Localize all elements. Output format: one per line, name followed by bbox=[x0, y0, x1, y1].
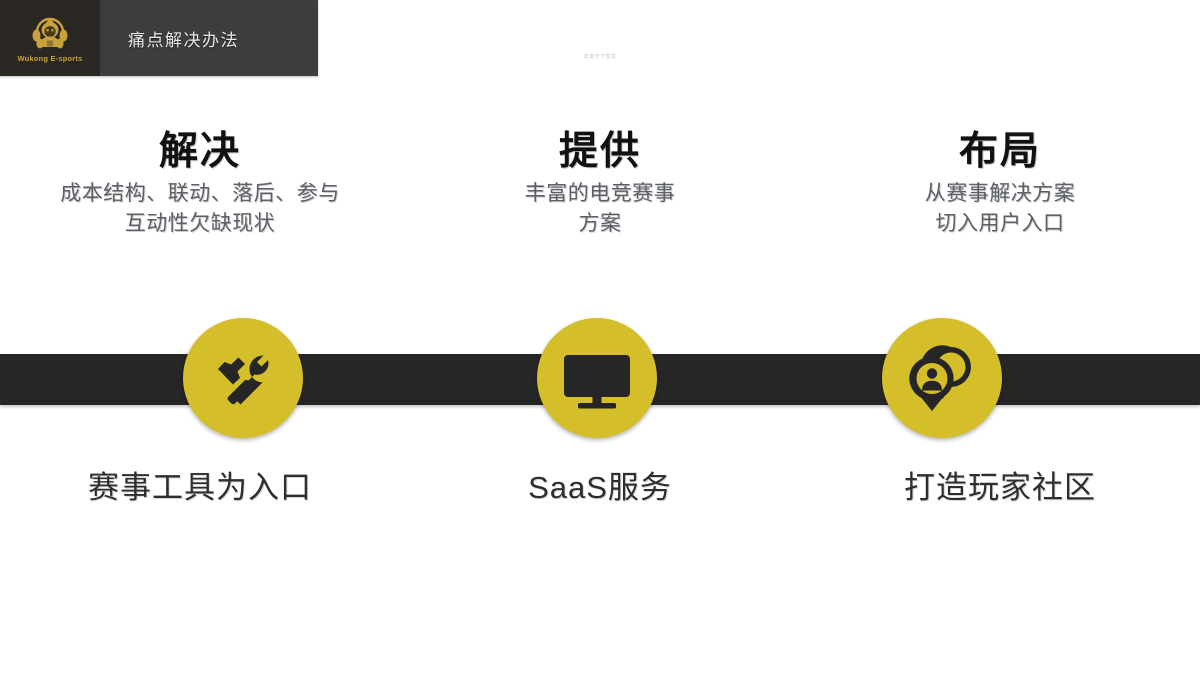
people-location-pins-icon bbox=[905, 341, 979, 415]
logo-text: Wukong E-sports bbox=[18, 54, 83, 63]
hammer-wrench-icon bbox=[207, 342, 279, 414]
columns-group: 解决 成本结构、联动、落后、参与 互动性欠缺现状 提供 丰富的电竞赛事 方案 布… bbox=[0, 132, 1200, 292]
captions-group: 赛事工具为入口 SaaS服务 打造玩家社区 bbox=[0, 462, 1200, 512]
column-heading: 布局 bbox=[959, 132, 1041, 173]
header-title: 痛点解决办法 bbox=[100, 0, 318, 76]
column-subtitle: 从赛事解决方案 切入用户入口 bbox=[925, 179, 1076, 239]
logo-panel: Wukong E-sports bbox=[0, 0, 100, 76]
icon-circle-tools[interactable] bbox=[183, 318, 303, 438]
monitor-bar-chart-icon bbox=[561, 342, 633, 414]
column-layout: 布局 从赛事解决方案 切入用户入口 bbox=[800, 132, 1200, 292]
column-heading: 解决 bbox=[159, 132, 241, 173]
wukong-monkey-logo-icon bbox=[27, 13, 73, 53]
icon-circle-community[interactable] bbox=[882, 318, 1002, 438]
column-subtitle: 成本结构、联动、落后、参与 互动性欠缺现状 bbox=[60, 179, 340, 239]
watermark-text: 收集时下整理 bbox=[560, 53, 640, 60]
column-solve: 解决 成本结构、联动、落后、参与 互动性欠缺现状 bbox=[0, 132, 400, 292]
column-provide: 提供 丰富的电竞赛事 方案 bbox=[400, 132, 800, 292]
column-heading: 提供 bbox=[559, 132, 641, 173]
caption-community: 打造玩家社区 bbox=[800, 462, 1200, 512]
column-subtitle: 丰富的电竞赛事 方案 bbox=[525, 179, 676, 239]
caption-saas: SaaS服务 bbox=[400, 462, 800, 512]
caption-tools: 赛事工具为入口 bbox=[0, 462, 400, 512]
header-bar: Wukong E-sports 痛点解决办法 bbox=[0, 0, 318, 76]
icon-circle-monitor[interactable] bbox=[537, 318, 657, 438]
